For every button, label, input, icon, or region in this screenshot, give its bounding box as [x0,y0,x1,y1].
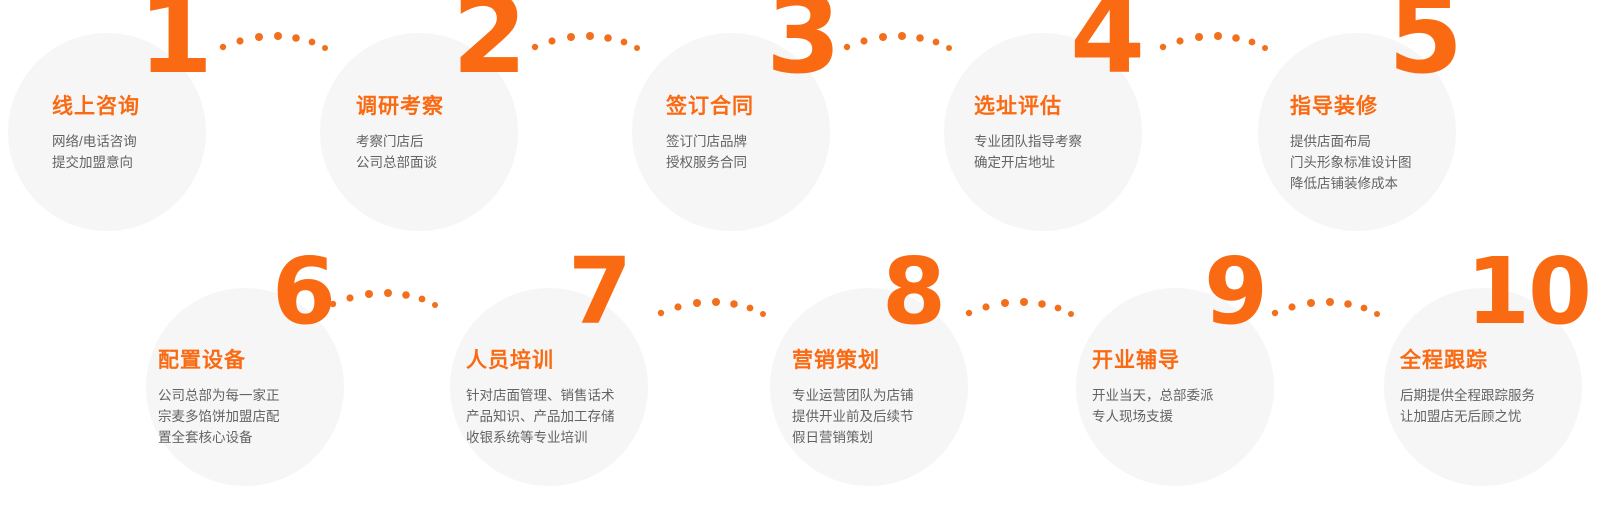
arc-4-to-5 [1158,26,1270,52]
step-number-10: 10 [1466,246,1590,338]
step-desc-line: 专业团队指导考察 [974,131,1082,152]
step-number-4: 4 [1070,0,1143,90]
step-desc-line: 提供开业前及后续节 [792,406,914,427]
step-desc-line: 收银系统等专业培训 [466,427,615,448]
step-desc-line: 门头形象标准设计图 [1290,152,1412,173]
step-text-6: 配置设备 公司总部为每一家正 宗麦多馅饼加盟店配 置全套核心设备 [158,350,280,448]
step-text-10: 全程跟踪 后期提供全程跟踪服务 让加盟店无后顾之忧 [1400,350,1535,427]
arc-7-to-8 [656,292,768,318]
step-title-8: 营销策划 [792,350,914,371]
step-number-9: 9 [1204,246,1266,338]
step-desc-line: 确定开店地址 [974,152,1082,173]
step-desc-line: 公司总部为每一家正 [158,385,280,406]
step-number-1: 1 [138,0,211,90]
step-title-10: 全程跟踪 [1400,350,1535,371]
step-number-3: 3 [766,0,839,90]
step-title-3: 签订合同 [666,96,754,117]
step-text-5: 指导装修 提供店面布局 门头形象标准设计图 降低店铺装修成本 [1290,96,1412,194]
step-desc-line: 针对店面管理、销售话术 [466,385,615,406]
step-desc-line: 提交加盟意向 [52,152,140,173]
step-number-5: 5 [1388,0,1461,90]
step-title-9: 开业辅导 [1092,350,1214,371]
franchise-process-flow: 1 线上咨询 网络/电话咨询 提交加盟意向 2 调研考察 考察门店后 [0,0,1606,508]
arc-6-to-7 [328,283,440,309]
step-desc-line: 后期提供全程跟踪服务 [1400,385,1535,406]
step-desc-line: 专人现场支援 [1092,406,1214,427]
step-text-8: 营销策划 专业运营团队为店铺 提供开业前及后续节 假日营销策划 [792,350,914,448]
step-number-6: 6 [272,246,334,338]
step-number-7: 7 [568,246,630,338]
step-desc-line: 置全套核心设备 [158,427,280,448]
step-title-2: 调研考察 [356,96,444,117]
step-desc-line: 网络/电话咨询 [52,131,140,152]
step-title-6: 配置设备 [158,350,280,371]
step-desc-line: 假日营销策划 [792,427,914,448]
step-text-3: 签订合同 签订门店品牌 授权服务合同 [666,96,754,173]
step-text-4: 选址评估 专业团队指导考察 确定开店地址 [974,96,1082,173]
step-text-1: 线上咨询 网络/电话咨询 提交加盟意向 [52,96,140,173]
step-text-7: 人员培训 针对店面管理、销售话术 产品知识、产品加工存储 收银系统等专业培训 [466,350,615,448]
arc-3-to-4 [842,26,954,52]
step-desc-line: 让加盟店无后顾之忧 [1400,406,1535,427]
step-text-9: 开业辅导 开业当天，总部委派 专人现场支援 [1092,350,1214,427]
arc-2-to-3 [530,26,642,52]
arc-9-to-10 [1270,292,1382,318]
step-desc-line: 考察门店后 [356,131,444,152]
step-title-1: 线上咨询 [52,96,140,117]
step-title-5: 指导装修 [1290,96,1412,117]
step-desc-line: 产品知识、产品加工存储 [466,406,615,427]
step-title-7: 人员培训 [466,350,615,371]
step-desc-line: 公司总部面谈 [356,152,444,173]
step-desc-line: 授权服务合同 [666,152,754,173]
step-desc-line: 开业当天，总部委派 [1092,385,1214,406]
step-desc-line: 签订门店品牌 [666,131,754,152]
arc-8-to-9 [964,292,1076,318]
step-desc-line: 宗麦多馅饼加盟店配 [158,406,280,427]
step-number-8: 8 [882,246,944,338]
step-desc-line: 降低店铺装修成本 [1290,173,1412,194]
arc-1-to-2 [218,26,330,52]
step-text-2: 调研考察 考察门店后 公司总部面谈 [356,96,444,173]
step-desc-line: 提供店面布局 [1290,131,1412,152]
step-title-4: 选址评估 [974,96,1082,117]
step-number-2: 2 [452,0,525,90]
step-desc-line: 专业运营团队为店铺 [792,385,914,406]
